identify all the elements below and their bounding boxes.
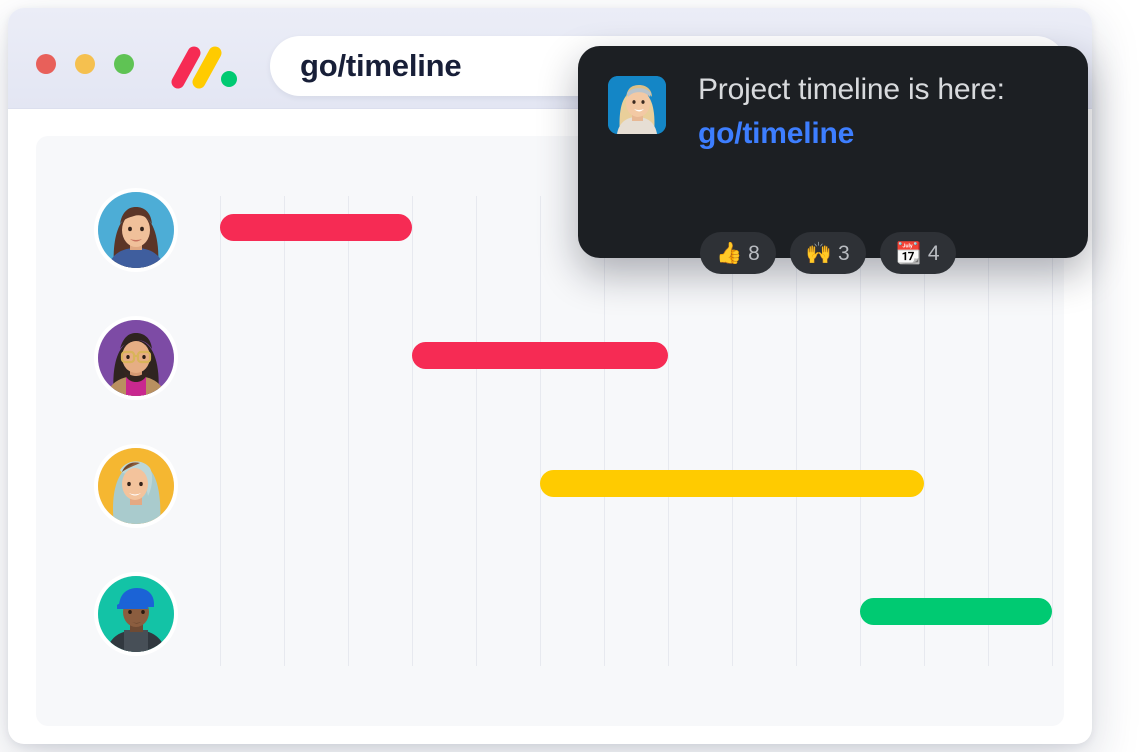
task-bar-red-2[interactable] — [412, 342, 668, 369]
reaction-calendar[interactable]: 📆4 — [880, 232, 956, 274]
toast-message-link[interactable]: go/timeline — [698, 117, 854, 150]
avatar-person-glasses-beard[interactable] — [98, 320, 174, 396]
task-bar-red-1[interactable] — [220, 214, 412, 241]
toast-sender-avatar — [608, 76, 666, 134]
calendar-icon: 📆 — [896, 243, 922, 264]
maximize-button[interactable] — [114, 54, 134, 74]
window-controls — [36, 54, 134, 74]
reaction-raised-hands[interactable]: 🙌3 — [790, 232, 866, 274]
notification-toast[interactable]: Project timeline is here: go/timeline 👍8… — [578, 46, 1088, 258]
close-button[interactable] — [36, 54, 56, 74]
minimize-button[interactable] — [75, 54, 95, 74]
avatar-woman-headscarf[interactable] — [98, 448, 174, 524]
thumbs-up-icon: 👍 — [716, 243, 742, 264]
raised-hands-icon: 🙌 — [806, 243, 832, 264]
gantt-row — [36, 302, 1064, 430]
reaction-count: 3 — [838, 243, 850, 264]
address-input[interactable]: go/timeline — [300, 36, 461, 96]
gantt-row — [36, 430, 1064, 558]
task-bar-green[interactable] — [860, 598, 1052, 625]
toast-message: Project timeline is here: go/timeline — [698, 68, 1058, 156]
reaction-count: 8 — [748, 243, 760, 264]
gantt-row — [36, 558, 1064, 686]
avatar-person-blue-cap[interactable] — [98, 576, 174, 652]
reaction-count: 4 — [928, 243, 940, 264]
task-bar-yellow[interactable] — [540, 470, 924, 497]
monday-logo-icon[interactable] — [168, 44, 244, 90]
reaction-thumbs-up[interactable]: 👍8 — [700, 232, 776, 274]
toast-message-text: Project timeline is here: — [698, 73, 1005, 106]
toast-reactions: 👍8🙌3📆4 — [700, 232, 956, 274]
avatar-woman-brown-hair[interactable] — [98, 192, 174, 268]
